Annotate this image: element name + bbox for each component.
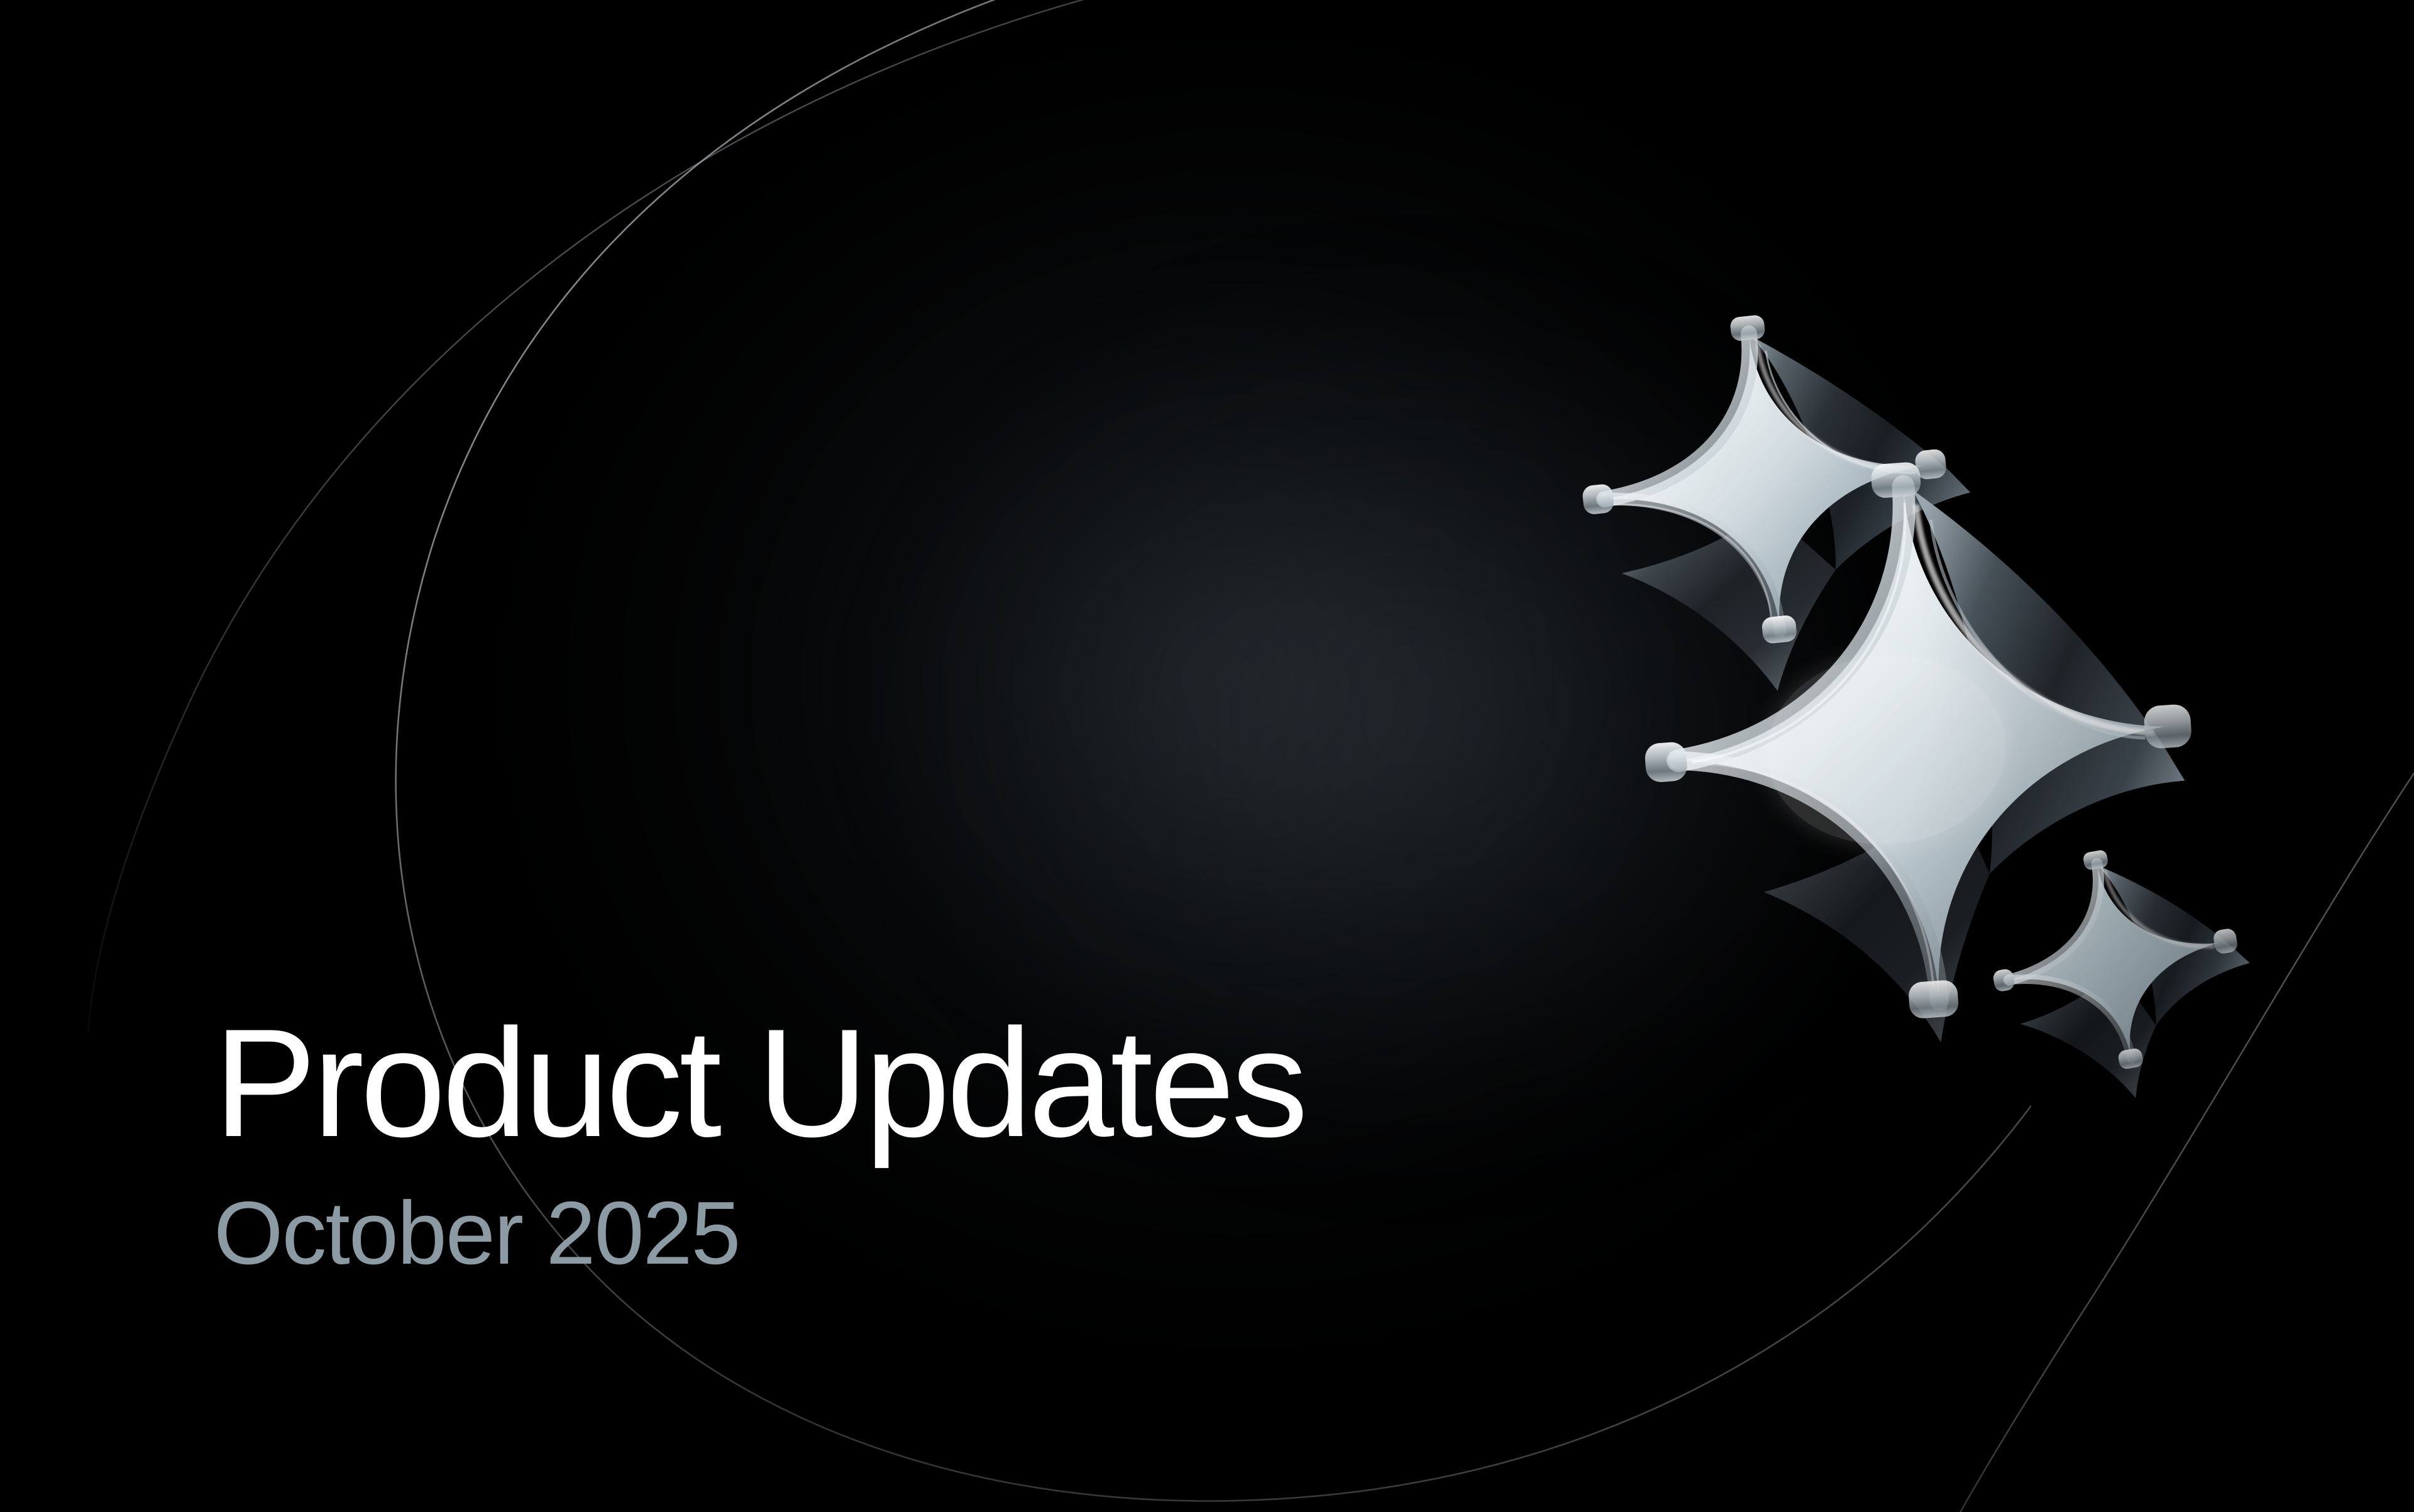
glass-sparkle-cluster — [0, 0, 2414, 1512]
sparkle-small-icon — [1975, 828, 2269, 1118]
product-updates-title-slide: Product Updates October 2025 — [0, 0, 2414, 1512]
edge-vignette — [0, 0, 2414, 1512]
right-arc — [1955, 773, 2414, 1512]
page-subtitle: October 2025 — [214, 1189, 1722, 1278]
decorative-arcs — [0, 0, 2414, 1512]
sparkle-large-icon — [1626, 444, 2212, 1061]
page-title: Product Updates — [214, 1006, 1722, 1160]
outer-arc — [88, 0, 1182, 1031]
background-secondary-glow — [943, 327, 1886, 1113]
sparkle-top-right-icon — [1566, 295, 1989, 709]
title-block: Product Updates October 2025 — [214, 1006, 1722, 1278]
